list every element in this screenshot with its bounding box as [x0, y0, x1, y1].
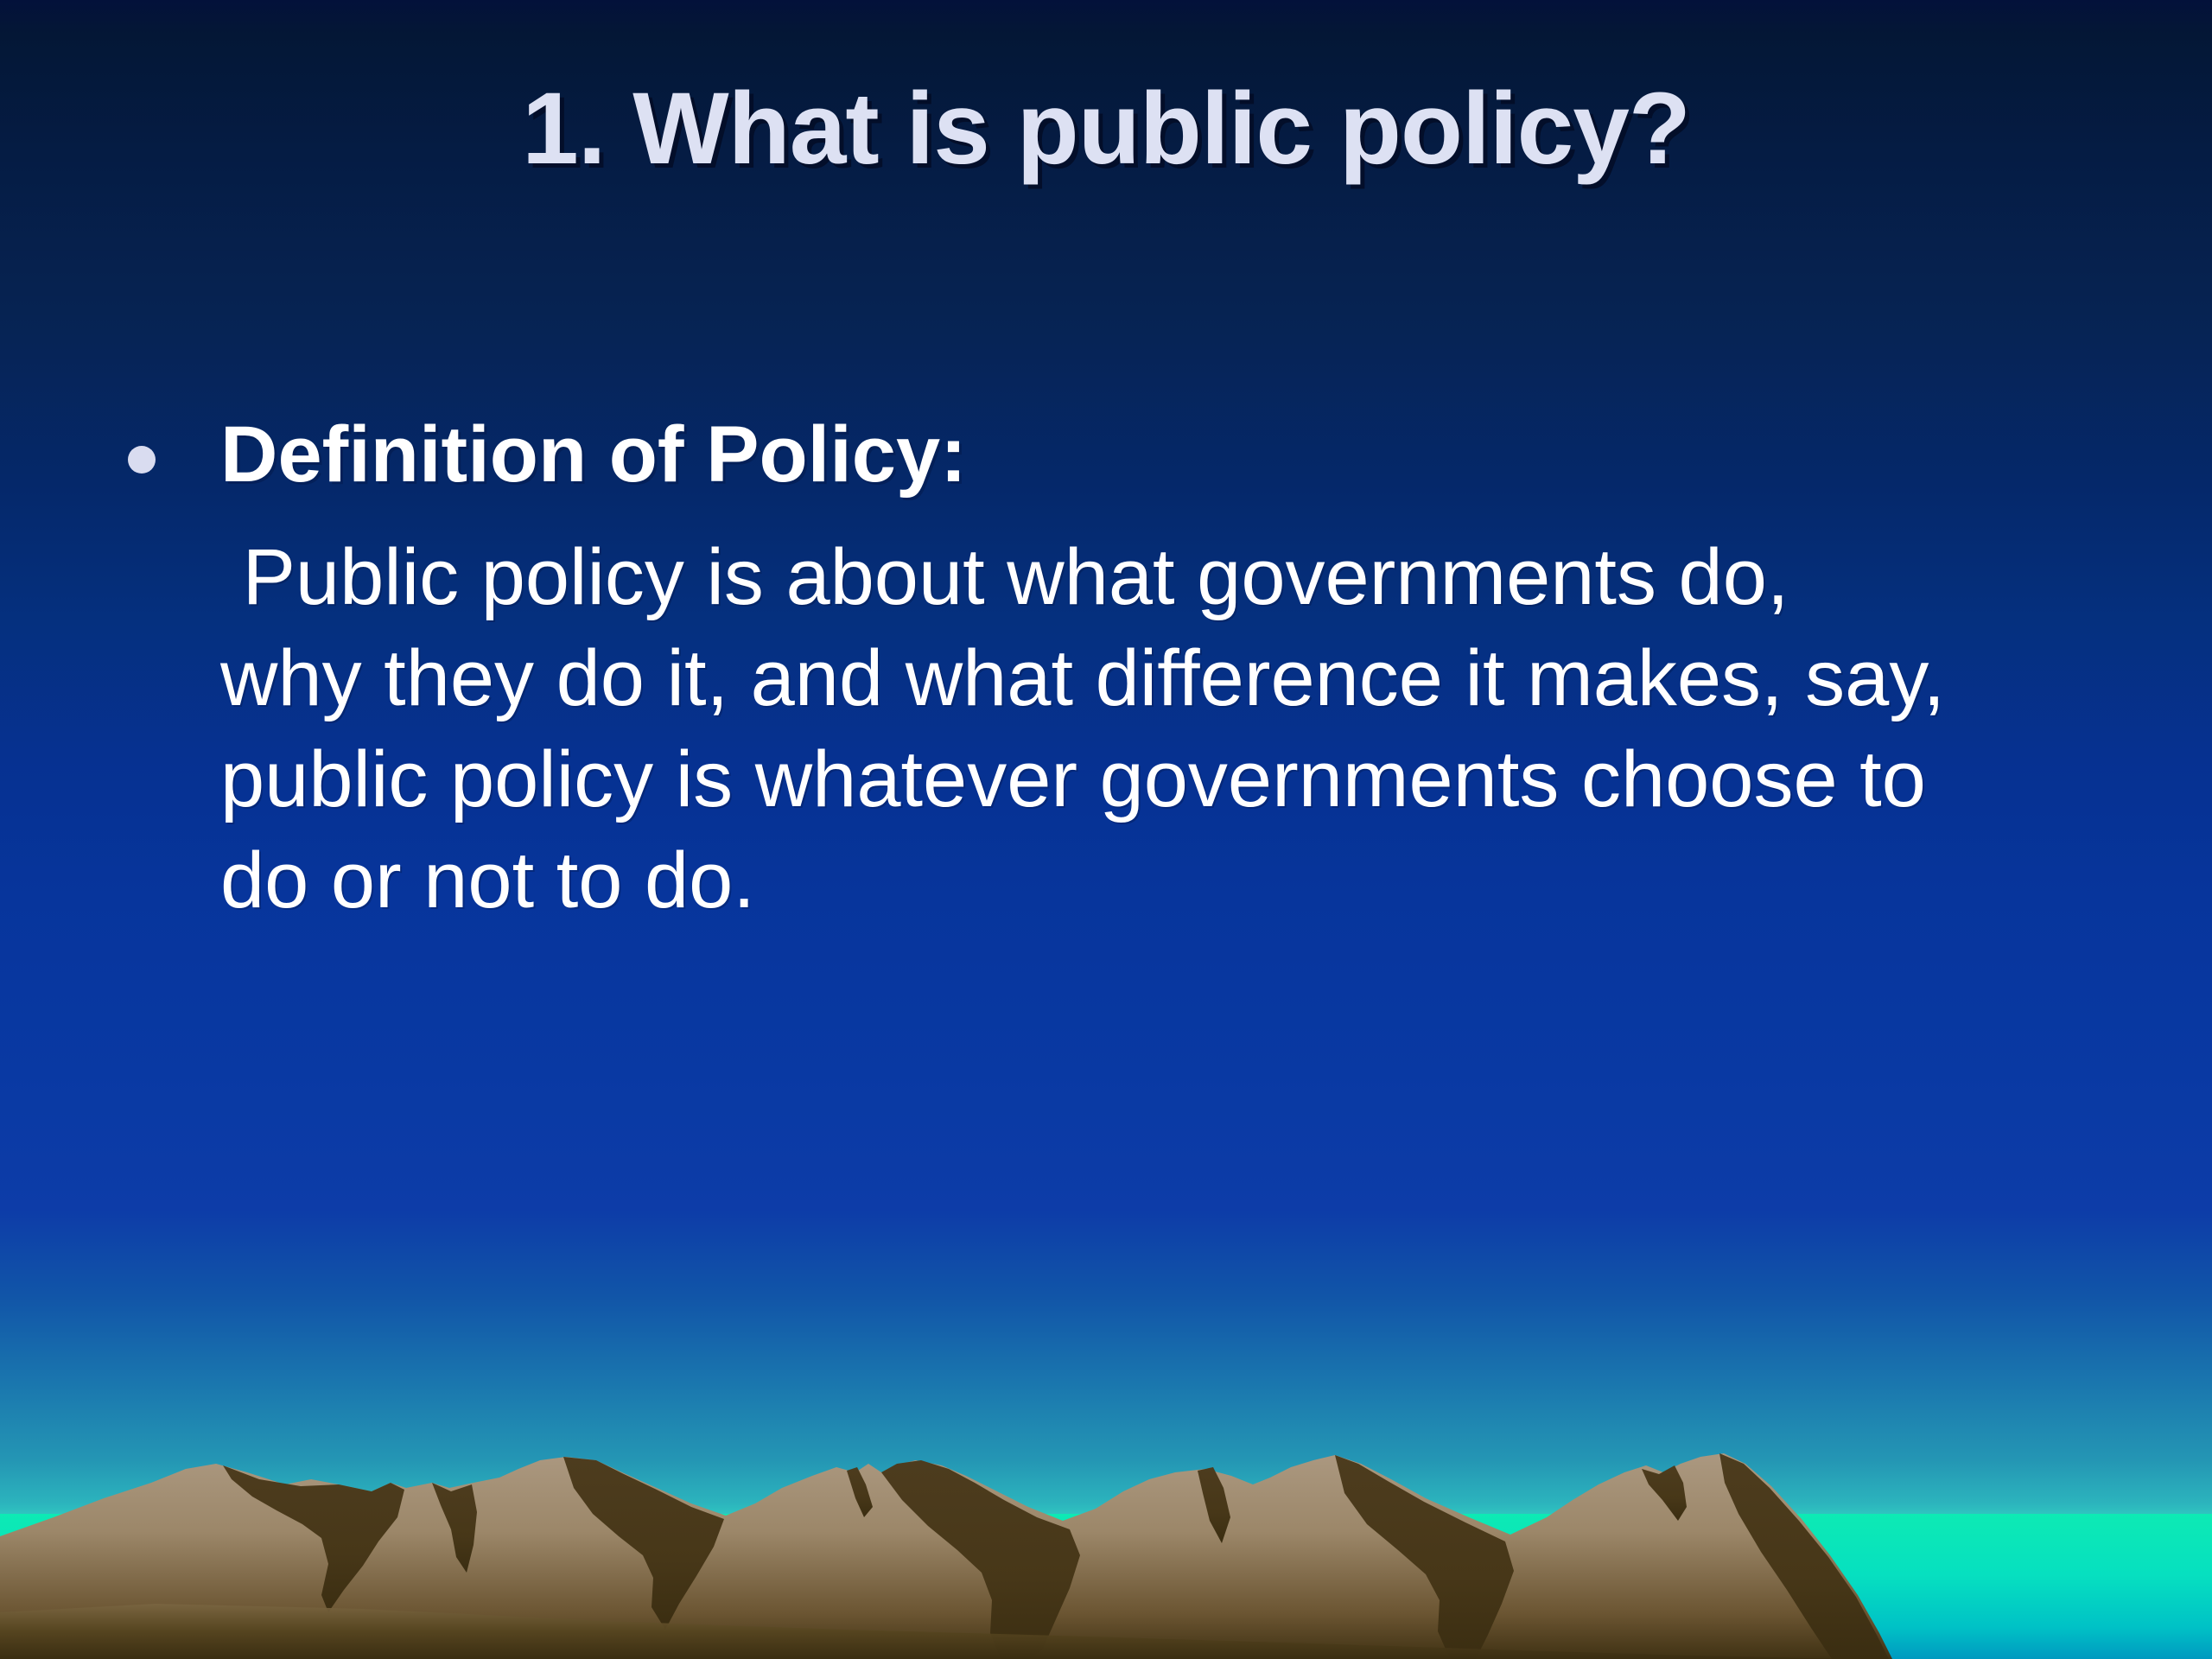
definition-paragraph: Public policy is about what governments … — [121, 527, 1948, 931]
mountain-range-artwork — [0, 1434, 2212, 1659]
presentation-slide: 1. What is public policy? Definition of … — [0, 0, 2212, 1659]
slide-body: Definition of Policy: Public policy is a… — [121, 406, 2108, 931]
bullet-label: Definition of Policy: — [220, 410, 967, 499]
slide-title: 1. What is public policy? — [0, 76, 2212, 183]
round-bullet-icon — [128, 446, 156, 474]
bullet-item-definition-of-policy: Definition of Policy: — [121, 406, 2108, 503]
